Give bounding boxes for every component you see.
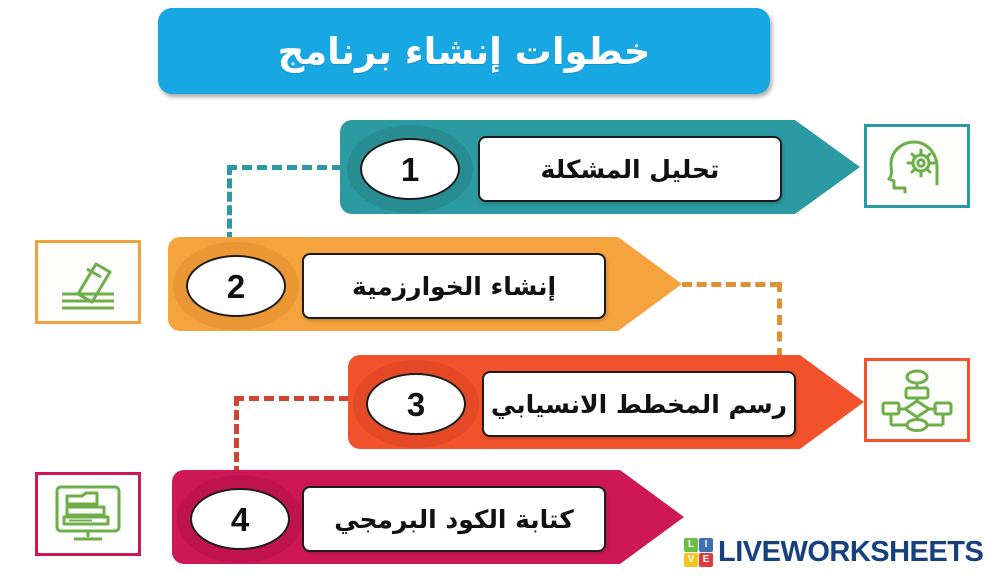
- connector-2-to-3-vertical: [777, 282, 782, 358]
- step-1-number: 1: [401, 153, 419, 186]
- liveworksheets-watermark: L I V E LIVEWORKSHEETS: [684, 536, 983, 569]
- step-4-arrow-head: [620, 470, 684, 564]
- step-2-arrow-head: [618, 237, 682, 331]
- step-3-label: رسم المخطط الانسيابي: [491, 390, 787, 419]
- logo-tile-l: L: [684, 538, 698, 552]
- logo-tile-i: I: [699, 538, 713, 552]
- step-row-3: 3 رسم المخطط الانسيابي: [348, 355, 868, 449]
- step-row-4: 4 كتابة الكود البرمجي: [172, 470, 692, 564]
- logo-tile-v: V: [684, 553, 698, 567]
- step-row-1: 1 تحليل المشكلة: [340, 120, 860, 214]
- step-4-label: كتابة الكود البرمجي: [334, 505, 574, 534]
- connector-3-to-4-horizontal: [234, 396, 349, 401]
- step-2-number-badge: 2: [186, 255, 286, 317]
- liveworksheets-wordmark: LIVEWORKSHEETS: [718, 536, 983, 569]
- head-gear-icon: [881, 134, 953, 198]
- flowchart-icon: [881, 368, 953, 432]
- step-1-number-badge: 1: [360, 138, 460, 200]
- step-4-label-box: كتابة الكود البرمجي: [302, 486, 606, 552]
- step-1-label: تحليل المشكلة: [541, 155, 720, 184]
- step-4-icon-card: [35, 472, 141, 556]
- step-2-icon-card: [35, 240, 141, 324]
- logo-tile-e: E: [699, 553, 713, 567]
- connector-2-to-3-horizontal: [682, 282, 780, 287]
- step-3-number: 3: [407, 388, 425, 421]
- worksheet-canvas: خطوات إنشاء برنامج 1 تحليل المشكلة: [0, 0, 1000, 576]
- connector-1-to-2-horizontal: [227, 165, 342, 170]
- connector-1-to-2-vertical: [227, 165, 232, 242]
- step-2-label-box: إنشاء الخوارزمية: [302, 253, 606, 319]
- step-row-2: 2 إنشاء الخوارزمية: [168, 237, 688, 331]
- step-3-icon-card: [864, 358, 970, 442]
- step-3-arrow-head: [800, 355, 864, 449]
- liveworksheets-logo-tiles: L I V E: [684, 538, 713, 567]
- pencil-writing-icon: [52, 250, 124, 314]
- page-title: خطوات إنشاء برنامج: [278, 30, 651, 73]
- connector-3-to-4-vertical: [234, 396, 239, 476]
- step-3-label-box: رسم المخطط الانسيابي: [482, 371, 796, 437]
- step-4-number: 4: [231, 503, 249, 536]
- monitor-code-icon: [52, 482, 124, 546]
- step-1-icon-card: [864, 124, 970, 208]
- step-4-number-badge: 4: [190, 488, 290, 550]
- step-2-label: إنشاء الخوارزمية: [352, 272, 556, 301]
- step-2-number: 2: [227, 270, 245, 303]
- step-1-arrow-head: [795, 120, 860, 214]
- page-title-banner: خطوات إنشاء برنامج: [158, 8, 770, 94]
- step-3-number-badge: 3: [366, 373, 466, 435]
- step-1-label-box: تحليل المشكلة: [478, 136, 782, 202]
